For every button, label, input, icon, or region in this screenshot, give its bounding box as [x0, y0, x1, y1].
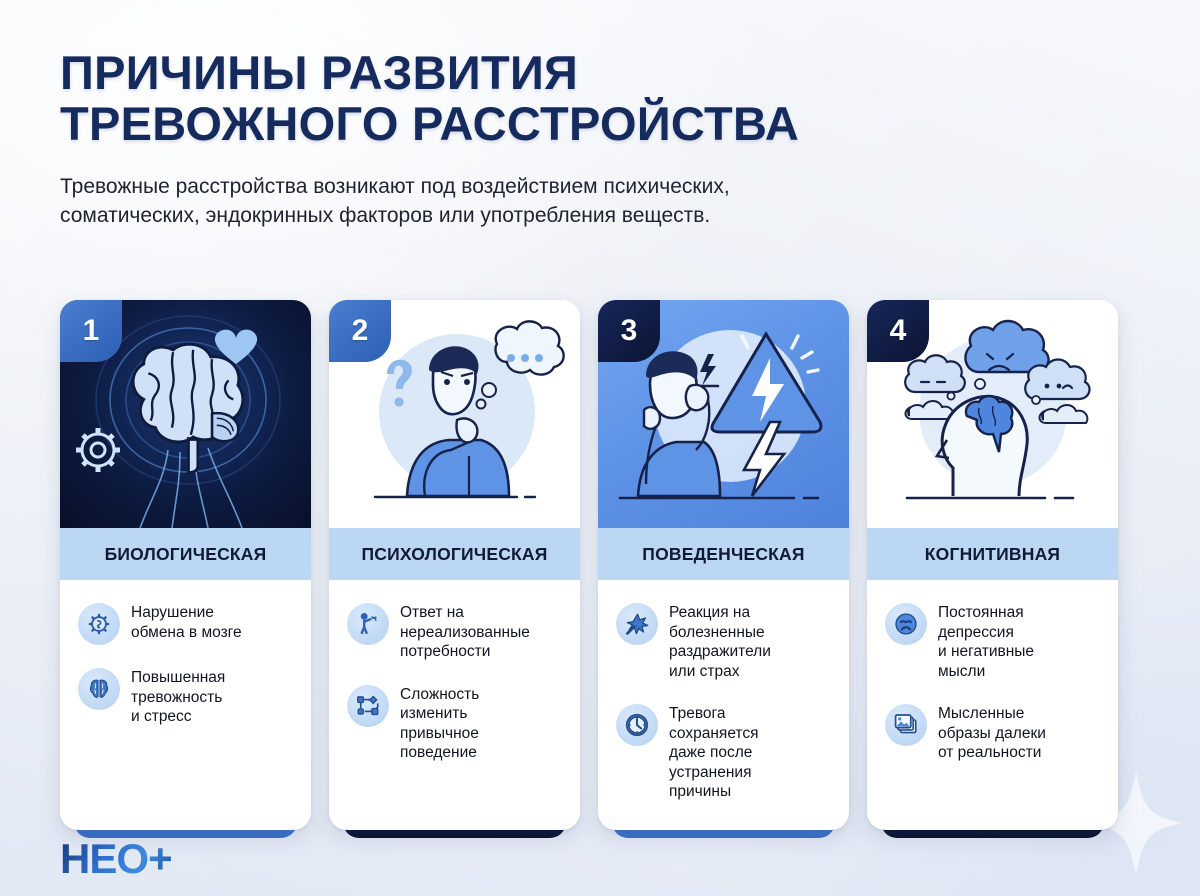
card-body: 1 БИОЛОГИЧЕСКАЯ: [60, 300, 311, 830]
clock-icon: [616, 704, 658, 746]
list-item: Нарушение обмена в мозге: [78, 602, 295, 645]
card-items: Постоянная депрессия и негативные мысли: [867, 580, 1118, 789]
header: ПРИЧИНЫ РАЗВИТИЯ ТРЕВОЖНОГО РАССТРОЙСТВА…: [60, 48, 1140, 231]
page-subtitle: Тревожные расстройства возникают под воз…: [60, 172, 1020, 232]
thinking-person-illustration: 2: [329, 300, 580, 528]
startled-person-warning-illustration: 3: [598, 300, 849, 528]
card-body: 4 КОГНИТИВНАЯ: [867, 300, 1118, 830]
card-number-badge: 2: [329, 300, 391, 362]
card-label-band: ПОВЕДЕНЧЕСКАЯ: [598, 528, 849, 580]
list-item: Повышенная тревожность и стресс: [78, 667, 295, 727]
person-reaching-icon: [347, 603, 389, 645]
cards-row: 1 БИОЛОГИЧЕСКАЯ: [60, 300, 1118, 830]
card-items: Реакция на болезненные раздражители или …: [598, 580, 849, 828]
card-2: 2 ПСИХОЛОГИЧЕСКАЯ: [329, 300, 580, 830]
list-item-text: Тревога сохраняется даже после устранени…: [669, 703, 759, 802]
card-body: 3 ПОВЕДЕНЧЕСКАЯ Реакция на болезненные р…: [598, 300, 849, 830]
card-1: 1 БИОЛОГИЧЕСКАЯ: [60, 300, 311, 830]
list-item: Мысленные образы далеки от реальности: [885, 703, 1102, 763]
sad-face-icon: [885, 603, 927, 645]
gear-brain-icon: [78, 603, 120, 645]
infographic-page: ПРИЧИНЫ РАЗВИТИЯ ТРЕВОЖНОГО РАССТРОЙСТВА…: [0, 0, 1200, 896]
head-thought-clouds-illustration: 4: [867, 300, 1118, 528]
list-item-text: Повышенная тревожность и стресс: [131, 667, 225, 727]
card-label: ПСИХОЛОГИЧЕСКАЯ: [361, 544, 547, 565]
list-item-text: Реакция на болезненные раздражители или …: [669, 602, 771, 681]
card-4: 4 КОГНИТИВНАЯ: [867, 300, 1118, 830]
card-items: Ответ на нереализованные потребности: [329, 580, 580, 789]
card-number-badge: 1: [60, 300, 122, 362]
brain-icon: [78, 668, 120, 710]
list-item-text: Мысленные образы далеки от реальности: [938, 703, 1046, 763]
card-number-badge: 4: [867, 300, 929, 362]
card-body: 2 ПСИХОЛОГИЧЕСКАЯ: [329, 300, 580, 830]
list-item: Реакция на болезненные раздражители или …: [616, 602, 833, 681]
list-item: Тревога сохраняется даже после устранени…: [616, 703, 833, 802]
card-label-band: БИОЛОГИЧЕСКАЯ: [60, 528, 311, 580]
list-item: Ответ на нереализованные потребности: [347, 602, 564, 662]
card-label: БИОЛОГИЧЕСКАЯ: [105, 544, 267, 565]
flowchart-icon: [347, 685, 389, 727]
brand-logo: НЕО+: [60, 838, 172, 880]
card-label: КОГНИТИВНАЯ: [925, 544, 1060, 565]
photos-icon: [885, 704, 927, 746]
list-item: Сложность изменить привычное поведение: [347, 684, 564, 763]
list-item-text: Ответ на нереализованные потребности: [400, 602, 530, 662]
list-item: Постоянная депрессия и негативные мысли: [885, 602, 1102, 681]
card-items: Нарушение обмена в мозге: [60, 580, 311, 753]
list-item-text: Нарушение обмена в мозге: [131, 602, 242, 642]
list-item-text: Постоянная депрессия и негативные мысли: [938, 602, 1034, 681]
page-title: ПРИЧИНЫ РАЗВИТИЯ ТРЕВОЖНОГО РАССТРОЙСТВА: [60, 48, 1140, 150]
card-label: ПОВЕДЕНЧЕСКАЯ: [642, 544, 804, 565]
card-3: 3 ПОВЕДЕНЧЕСКАЯ Реакция на болезненные р…: [598, 300, 849, 830]
card-label-band: КОГНИТИВНАЯ: [867, 528, 1118, 580]
list-item-text: Сложность изменить привычное поведение: [400, 684, 479, 763]
card-label-band: ПСИХОЛОГИЧЕСКАЯ: [329, 528, 580, 580]
burst-impact-icon: [616, 603, 658, 645]
card-number-badge: 3: [598, 300, 660, 362]
brain-neural-illustration: 1: [60, 300, 311, 528]
